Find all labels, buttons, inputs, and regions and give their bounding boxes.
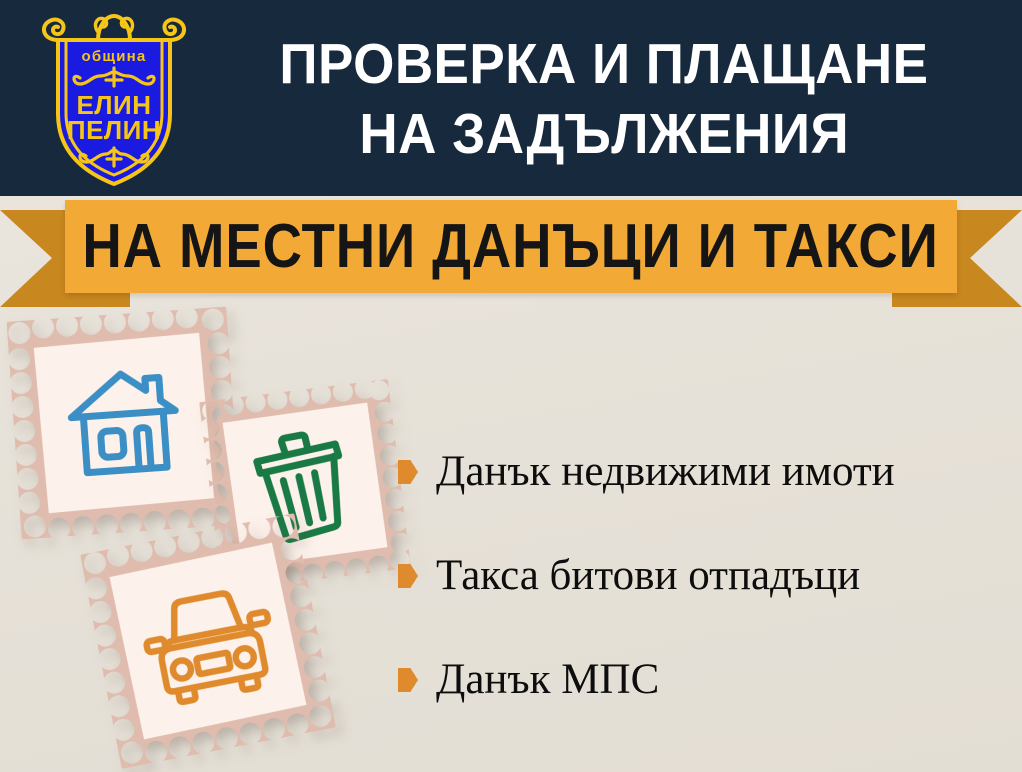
svg-text:община: община — [82, 48, 147, 65]
subtitle-ribbon: НА МЕСТНИ ДАНЪЦИ И ТАКСИ — [0, 196, 1022, 312]
list-item: Данък МПС — [398, 628, 1018, 732]
list-item: Такса битови отпадъци — [398, 524, 1018, 628]
stamp-card-vehicle — [76, 509, 341, 772]
page-title-line-1: ПРОВЕРКА И ПЛАЩАНЕ — [279, 30, 928, 100]
ribbon-label: НА МЕСТНИ ДАНЪЦИ И ТАКСИ — [83, 216, 939, 278]
page-title-line-2: НА ЗАДЪЛЖЕНИЯ — [359, 100, 849, 170]
svg-text:ПЕЛИН: ПЕЛИН — [67, 115, 161, 145]
page-title: ПРОВЕРКА И ПЛАЩАНЕ НА ЗАДЪЛЖЕНИЯ — [196, 16, 1012, 184]
poster-canvas: община ЕЛИН ПЕЛИН ПРОВЕРКА И П — [0, 0, 1022, 772]
ribbon-band: НА МЕСТНИ ДАНЪЦИ И ТАКСИ — [65, 200, 957, 293]
tax-list: Данък недвижими имоти Такса битови отпад… — [398, 420, 1018, 732]
arrow-pentagon-bullet-icon — [398, 668, 418, 692]
tax-item-label: Данък недвижими имоти — [436, 449, 895, 494]
arrow-pentagon-bullet-icon — [398, 460, 418, 484]
municipality-crest-icon: община ЕЛИН ПЕЛИН — [36, 6, 192, 190]
arrow-pentagon-bullet-icon — [398, 564, 418, 588]
tax-item-label: Данък МПС — [436, 657, 659, 702]
list-item: Данък недвижими имоти — [398, 420, 1018, 524]
tax-item-label: Такса битови отпадъци — [436, 553, 860, 598]
